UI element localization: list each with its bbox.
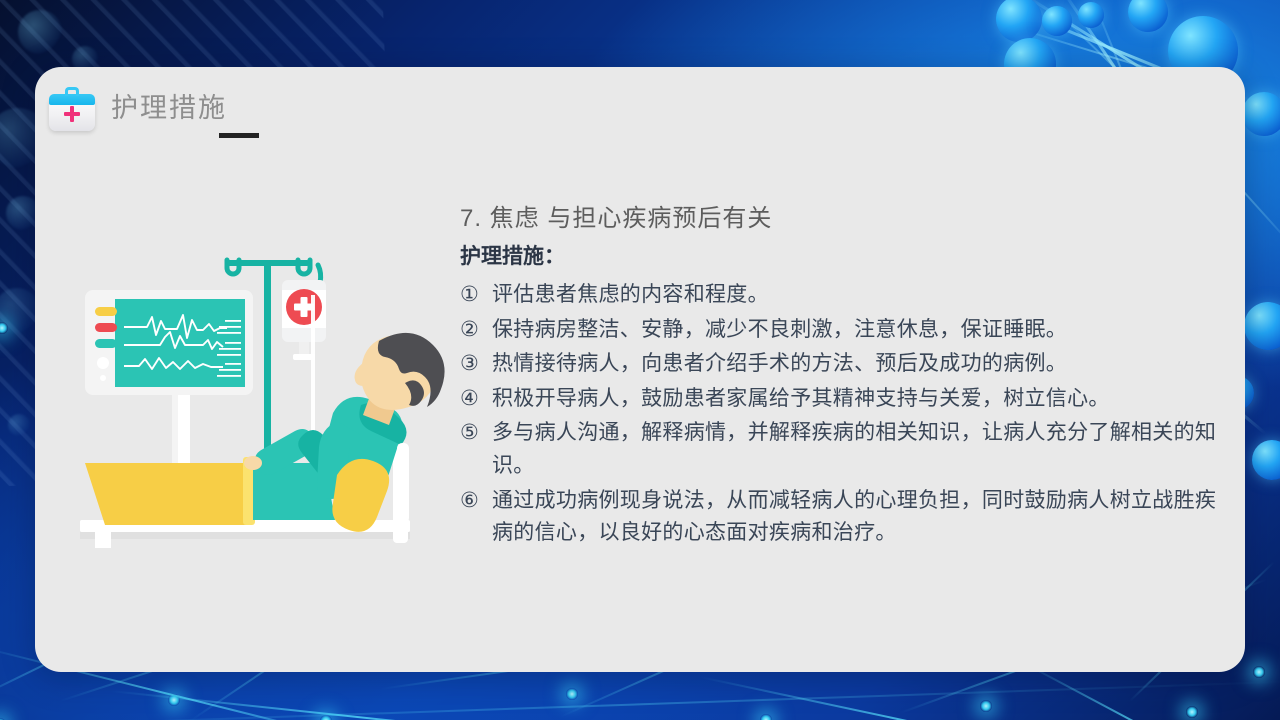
title-underline [219, 133, 259, 138]
list-item: ⑤ 多与病人沟通，解释病情，并解释疾病的相关知识，让病人充分了解相关的知识。 [460, 417, 1220, 482]
network-node [168, 694, 180, 706]
network-node [320, 715, 332, 720]
list-text: 评估患者焦虑的内容和程度。 [492, 279, 1220, 312]
list-marker: ⑤ [460, 417, 492, 482]
list-item: ④ 积极开导病人，鼓励患者家属给予其精神支持与关爱，树立信心。 [460, 383, 1220, 416]
network-node [980, 700, 992, 712]
page-title: 护理措施 [111, 95, 227, 122]
molecule-sphere [1078, 2, 1104, 28]
medical-kit-icon [49, 85, 95, 131]
list-marker: ③ [460, 348, 492, 381]
network-node [760, 714, 772, 720]
bokeh-circle [18, 10, 62, 54]
slide-root: 护理措施 [0, 0, 1280, 720]
list-item: ③ 热情接待病人，向患者介绍手术的方法、预后及成功的病例。 [460, 348, 1220, 381]
list-marker: ① [460, 279, 492, 312]
network-node [566, 688, 578, 700]
list-item: ⑥ 通过成功病例现身说法，从而减轻病人的心理负担，同时鼓励病人树立战胜疾病的信心… [460, 485, 1220, 550]
lead-line: 7. 焦虑 与担心疾病预后有关 [460, 204, 1220, 234]
card-header: 护理措施 [49, 85, 227, 131]
network-node [1253, 666, 1265, 678]
list-text: 热情接待病人，向患者介绍手术的方法、预后及成功的病例。 [492, 348, 1220, 381]
molecule-sphere [1242, 92, 1280, 136]
list-text: 保持病房整洁、安静，减少不良刺激，注意休息，保证睡眠。 [492, 314, 1220, 347]
content-card: 护理措施 [35, 67, 1245, 672]
list-marker: ② [460, 314, 492, 347]
list-text: 积极开导病人，鼓励患者家属给予其精神支持与关爱，树立信心。 [492, 383, 1220, 416]
list-item: ② 保持病房整洁、安静，减少不良刺激，注意休息，保证睡眠。 [460, 314, 1220, 347]
list-text: 通过成功病例现身说法，从而减轻病人的心理负担，同时鼓励病人树立战胜疾病的信心，以… [492, 485, 1220, 550]
molecule-sphere [1042, 6, 1072, 36]
measures-body: 7. 焦虑 与担心疾病预后有关 护理措施： ① 评估患者焦虑的内容和程度。 ② … [460, 204, 1220, 552]
list-text: 多与病人沟通，解释病情，并解释疾病的相关知识，让病人充分了解相关的知识。 [492, 417, 1220, 482]
list-item: ① 评估患者焦虑的内容和程度。 [460, 279, 1220, 312]
hospital-patient-illustration [75, 235, 475, 635]
list-marker: ④ [460, 383, 492, 416]
bokeh-circle [8, 414, 30, 436]
list-marker: ⑥ [460, 485, 492, 550]
subhead: 护理措施： [460, 243, 1220, 270]
network-node [1186, 706, 1198, 718]
